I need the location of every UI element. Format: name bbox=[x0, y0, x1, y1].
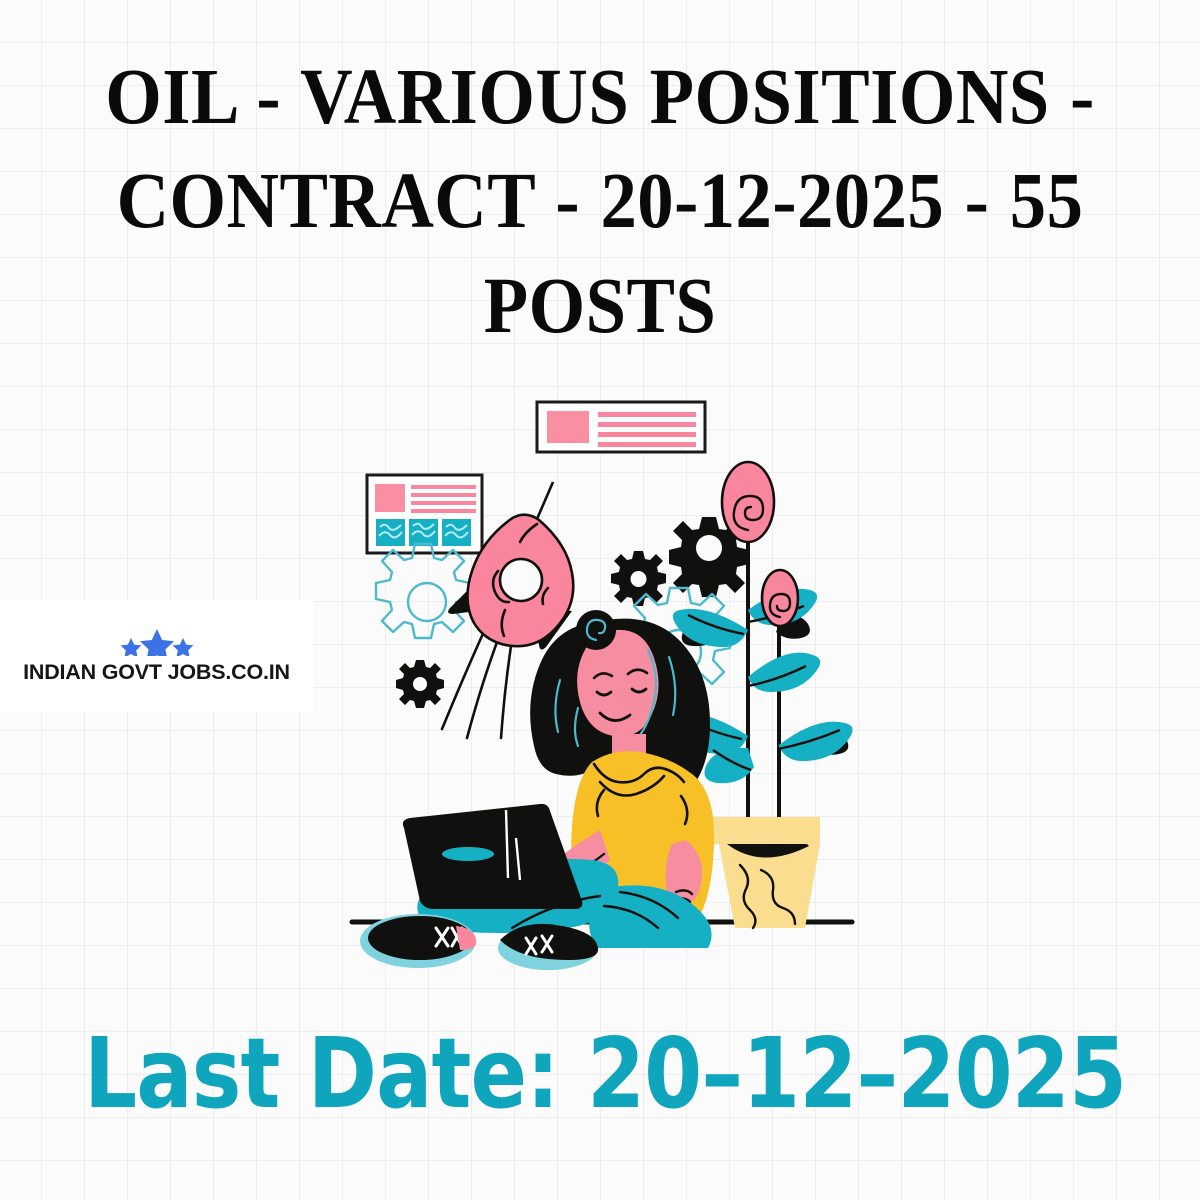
shoe-left bbox=[360, 914, 476, 968]
laptop-icon bbox=[403, 804, 582, 909]
gear-small-black bbox=[611, 551, 666, 606]
person-icon bbox=[360, 610, 714, 970]
poster-canvas: OIL - VARIOUS POSITIONS - CONTRACT - 20-… bbox=[0, 0, 1200, 1200]
three-stars-icon bbox=[115, 628, 199, 656]
page-title-container: OIL - VARIOUS POSITIONS - CONTRACT - 20-… bbox=[60, 46, 1140, 359]
last-date-container: Last Date: 20–12–2025 bbox=[0, 1022, 1200, 1127]
page-title: OIL - VARIOUS POSITIONS - CONTRACT - 20-… bbox=[103, 46, 1097, 359]
site-logo-text: INDIAN GOVT JOBS.CO.IN bbox=[23, 660, 290, 685]
flower-large bbox=[722, 462, 774, 542]
gear-tiny-black bbox=[396, 660, 444, 708]
leaf-group bbox=[673, 609, 748, 647]
card-panel-top bbox=[537, 402, 705, 452]
card-panel-bottom bbox=[367, 475, 482, 553]
last-date-text: Last Date: 20–12–2025 bbox=[84, 1022, 1116, 1127]
flower-small bbox=[762, 570, 798, 626]
shoe-right bbox=[498, 924, 598, 970]
site-logo-badge[interactable]: INDIAN GOVT JOBS.CO.IN bbox=[0, 600, 313, 712]
gear-outline-teal-left bbox=[376, 544, 470, 638]
